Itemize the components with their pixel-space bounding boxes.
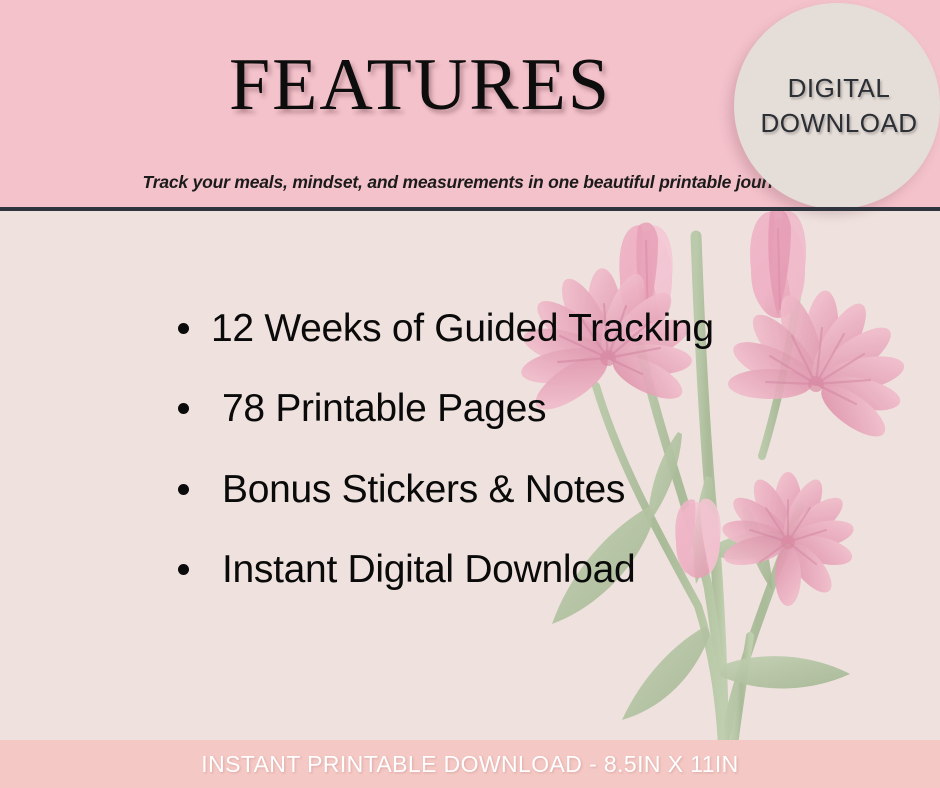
- badge-line-2: DOWNLOAD: [760, 106, 917, 141]
- features-slide: 12 Weeks of Guided Tracking 78 Printable…: [0, 0, 940, 788]
- features-body: 12 Weeks of Guided Tracking 78 Printable…: [0, 211, 940, 740]
- bullet-point-icon: [178, 403, 189, 414]
- list-item-label: Bonus Stickers & Notes: [211, 470, 625, 509]
- list-item: Instant Digital Download: [178, 550, 635, 589]
- page-title: FEATURES: [0, 48, 840, 122]
- list-item: 78 Printable Pages: [178, 389, 546, 428]
- footer-label: INSTANT PRINTABLE DOWNLOAD - 8.5IN X 11I…: [201, 751, 738, 778]
- list-item-label: 78 Printable Pages: [211, 389, 546, 428]
- list-item-label: Instant Digital Download: [211, 550, 635, 589]
- header-divider: [0, 207, 940, 211]
- list-item: 12 Weeks of Guided Tracking: [178, 309, 714, 348]
- bullet-point-icon: [178, 323, 189, 334]
- list-item-label: 12 Weeks of Guided Tracking: [211, 309, 714, 348]
- bullet-point-icon: [178, 564, 189, 575]
- badge-line-1: DIGITAL: [788, 71, 891, 106]
- footer-banner: INSTANT PRINTABLE DOWNLOAD - 8.5IN X 11I…: [0, 740, 940, 788]
- bullet-point-icon: [178, 484, 189, 495]
- features-bullet-list: 12 Weeks of Guided Tracking 78 Printable…: [0, 211, 940, 740]
- digital-download-badge: DIGITAL DOWNLOAD: [734, 3, 940, 209]
- list-item: Bonus Stickers & Notes: [178, 470, 625, 509]
